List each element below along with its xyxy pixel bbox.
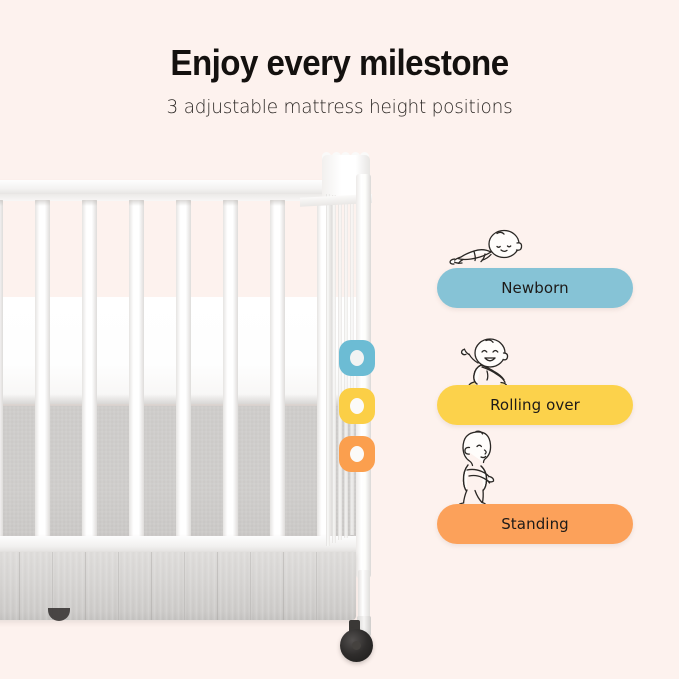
toddler-standing-icon [451, 428, 513, 512]
infographic-page: Enjoy every milestone 3 adjustable mattr… [0, 0, 679, 679]
crib-corner-post [356, 174, 371, 578]
crib-endpanel-slat [326, 194, 330, 546]
milestone-pill-newborn[interactable]: Newborn [437, 268, 633, 308]
height-marker-newborn[interactable] [339, 340, 375, 376]
height-marker-hole [350, 398, 364, 414]
crib-slat [129, 200, 144, 540]
milestone-label: Standing [501, 515, 569, 533]
skirt-fold [184, 552, 185, 620]
crib-slat [82, 200, 97, 540]
caster-hub [352, 641, 361, 650]
height-marker-standing[interactable] [339, 436, 375, 472]
crib-slats [0, 200, 363, 540]
skirt-fold [217, 552, 218, 620]
milestone-label: Newborn [501, 279, 569, 297]
skirt-fold [283, 552, 284, 620]
skirt-fold [250, 552, 251, 620]
crib-slat [176, 200, 191, 540]
skirt-fold [118, 552, 119, 620]
height-marker-hole [350, 350, 364, 366]
milestone-label: Rolling over [490, 396, 580, 414]
page-title: Enjoy every milestone [27, 44, 652, 83]
page-subtitle: 3 adjustable mattress height positions [10, 96, 669, 118]
crib-slat [223, 200, 238, 540]
crib-slat [35, 200, 50, 540]
skirt-fold [316, 552, 317, 620]
height-marker-hole [350, 446, 364, 462]
skirt-fold [19, 552, 20, 620]
skirt-fold [151, 552, 152, 620]
skirt-fold [85, 552, 86, 620]
milestone-pill-rolling-over[interactable]: Rolling over [437, 385, 633, 425]
milestone-pill-standing[interactable]: Standing [437, 504, 633, 544]
header: Enjoy every milestone 3 adjustable mattr… [0, 0, 679, 118]
crib-endpanel-slat [332, 195, 336, 543]
crib-slat [270, 200, 285, 540]
crib-slat [0, 200, 3, 540]
height-marker-rolling-over[interactable] [339, 388, 375, 424]
